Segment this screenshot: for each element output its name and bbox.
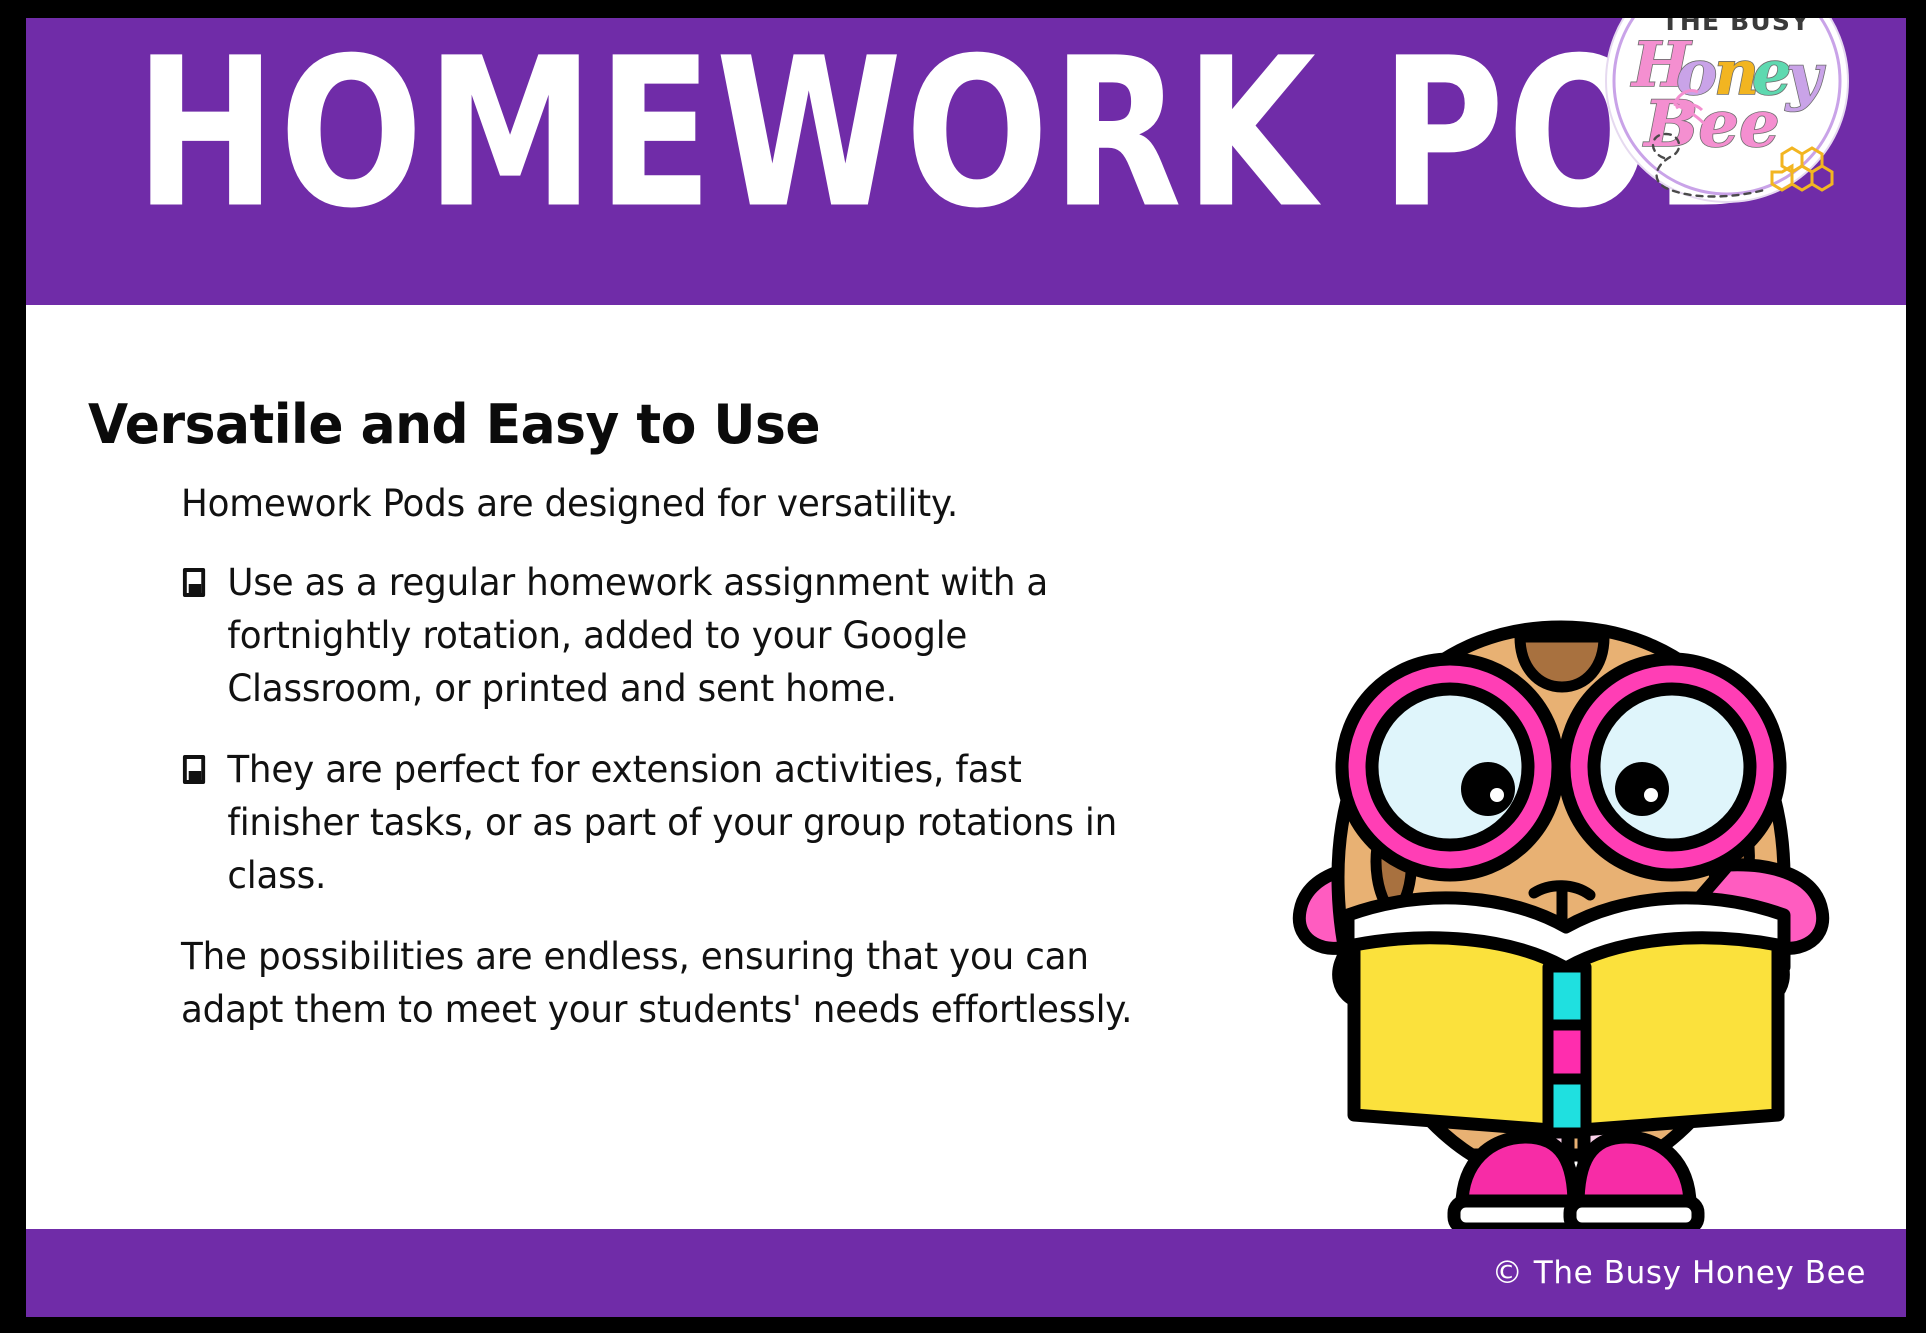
book-cover-right [1568, 938, 1778, 1131]
list-item: They are perfect for extension activitie… [181, 743, 1160, 902]
list-item-label: Use as a regular homework assignment wit… [227, 561, 1048, 710]
owl-pupil-left-glint [1490, 788, 1504, 802]
checkbox-square-icon [183, 755, 205, 784]
intro-paragraph: Homework Pods are designed for versatili… [181, 477, 1160, 530]
main-content: Versatile and Easy to Use Homework Pods … [26, 305, 1906, 1229]
footer-band: © The Busy Honey Bee [26, 1229, 1906, 1317]
slide-canvas: HOMEWORK POD Versatile and Easy to Use H… [26, 18, 1906, 1317]
owl-reading-book-illustration [1276, 615, 1846, 1235]
logo-word-bee: Bee [1642, 87, 1780, 162]
owl-pupil-right [1615, 762, 1669, 816]
book-spine-stripe-cyan-bottom [1548, 1079, 1586, 1133]
book-cover-left [1354, 938, 1564, 1131]
owl-pupil-left [1461, 762, 1515, 816]
owl-shoe-left-sole [1454, 1201, 1582, 1229]
owl-pupil-right-glint [1644, 788, 1658, 802]
owl-eye-right [1594, 689, 1750, 845]
owl-spot-head [1520, 637, 1604, 687]
logo-letter-y: y [1784, 40, 1826, 113]
brand-logo: THE BUSY H o n e y Bee [1604, 18, 1850, 204]
book-spine-stripe-cyan-top [1548, 967, 1586, 1025]
closing-paragraph: The possibilities are endless, ensuring … [181, 930, 1160, 1036]
list-item-label: They are perfect for extension activitie… [227, 748, 1117, 897]
owl-shoe-right-sole [1570, 1201, 1698, 1229]
copyright-text: © The Busy Honey Bee [1492, 1255, 1866, 1291]
page-title: HOMEWORK POD [101, 22, 1831, 246]
owl-eye-left [1372, 689, 1528, 845]
section-heading: Versatile and Easy to Use [88, 393, 820, 456]
checkbox-square-icon [183, 568, 205, 597]
book-spine-stripe-pink [1548, 1025, 1586, 1079]
slide-frame: HOMEWORK POD Versatile and Easy to Use H… [0, 0, 1926, 1333]
list-item: Use as a regular homework assignment wit… [181, 556, 1160, 715]
content-text-block: Homework Pods are designed for versatili… [181, 477, 1196, 1064]
